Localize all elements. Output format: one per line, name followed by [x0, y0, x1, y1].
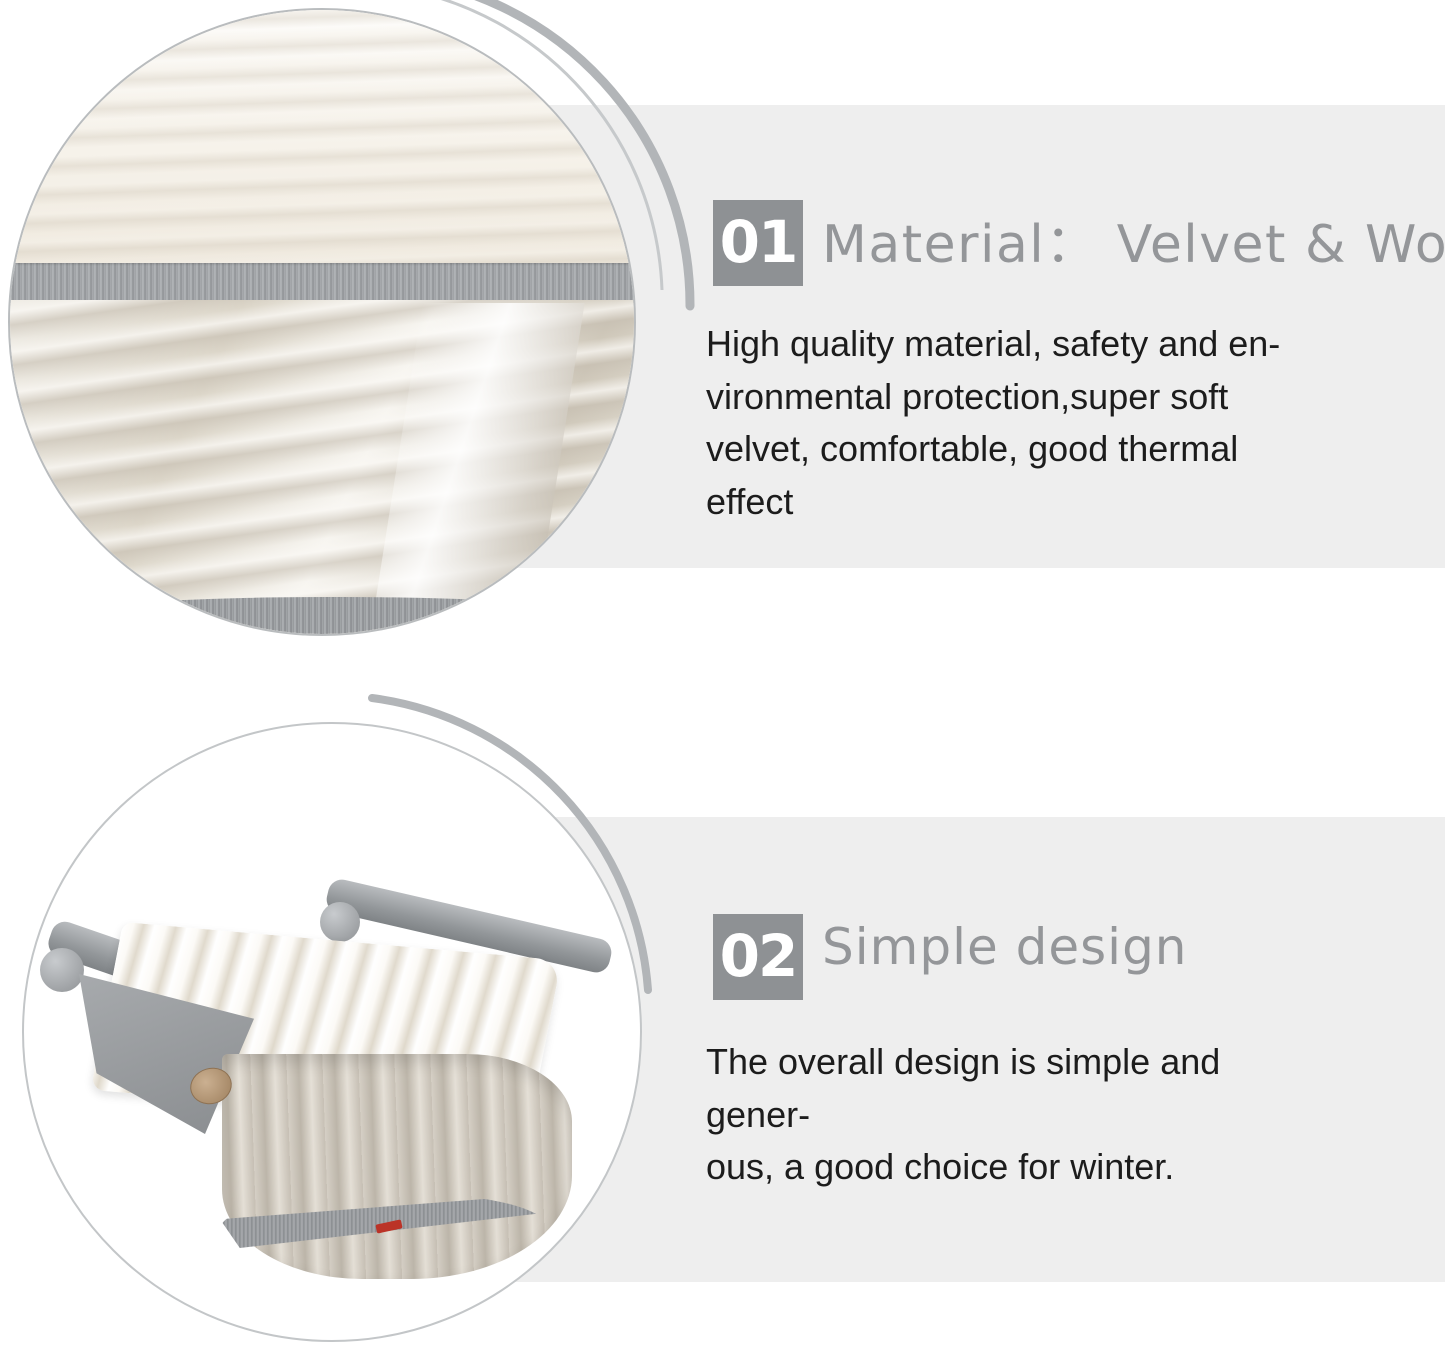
feature-section-01: 01 Material： Velvet & Wood High quality … [0, 0, 1445, 690]
hammock-rear-knob [320, 902, 360, 942]
feature-title-01: Material： Velvet & Wood [822, 202, 1445, 277]
feature-number-text: 01 [713, 213, 803, 271]
velvet-texture-art [10, 10, 634, 634]
velvet-upper-ribs [10, 10, 634, 266]
feature-number-text: 02 [713, 927, 803, 985]
feature-body-02: The overall design is simple and gener- … [706, 1036, 1316, 1194]
product-photo-velvet-closeup [8, 8, 636, 636]
feature-number-badge-02: 02 [713, 914, 803, 1000]
gray-woven-trim-band [8, 263, 636, 303]
hammock-inner-pocket [222, 1054, 572, 1279]
feature-body-01: High quality material, safety and en- vi… [706, 318, 1356, 528]
feature-title-02: Simple design [822, 918, 1188, 976]
gray-hem-edge [47, 597, 621, 636]
hammock-front-knob [40, 948, 84, 992]
feature-section-02: 02 [0, 690, 1445, 1361]
feature-number-badge-01: 01 [713, 200, 803, 286]
hammock-art [24, 724, 640, 1340]
product-photo-hammock [22, 722, 642, 1342]
